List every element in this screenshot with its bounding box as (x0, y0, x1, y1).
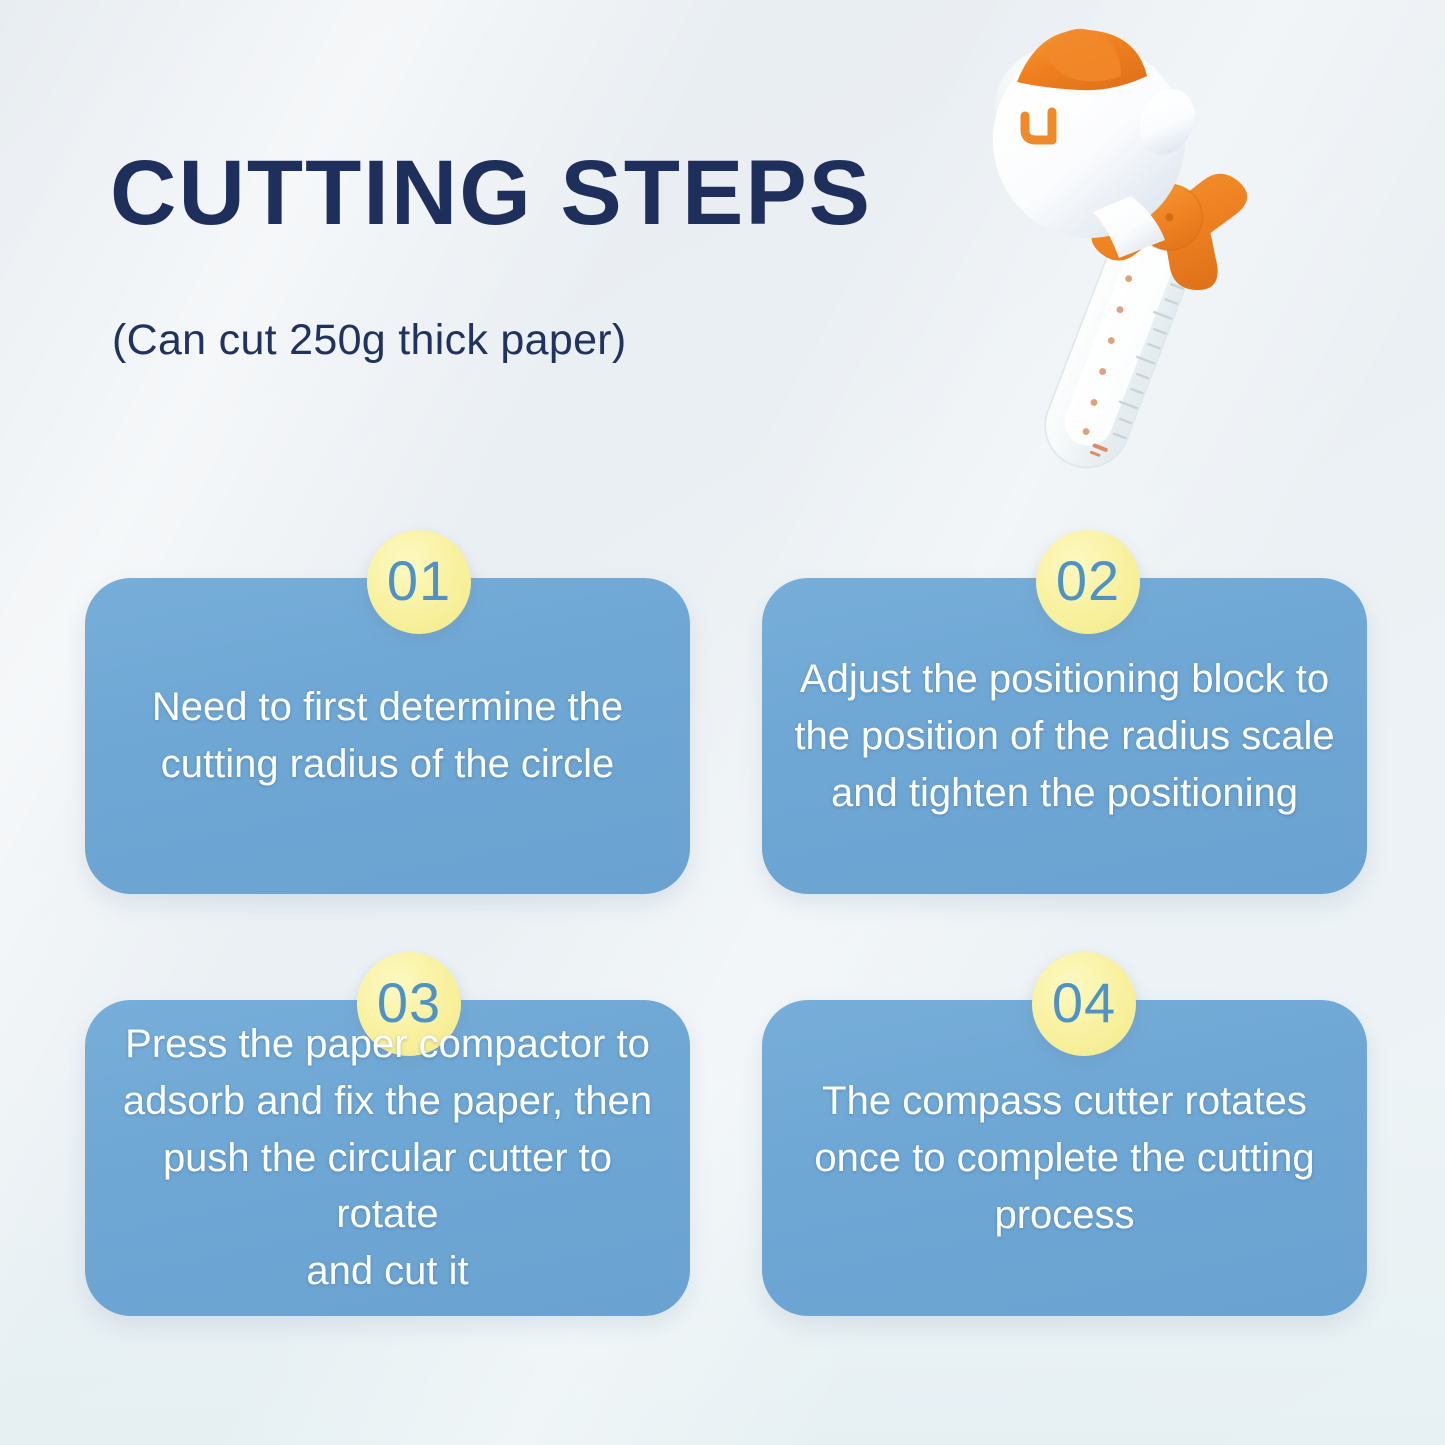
step-card-02[interactable]: 02 Adjust the positioning block to the p… (762, 578, 1367, 894)
step-card-03[interactable]: 03 Press the paper compactor to adsorb a… (85, 1000, 690, 1316)
step-badge-02: 02 (1036, 530, 1140, 634)
step-badge-04: 04 (1032, 952, 1136, 1056)
page-title: CUTTING STEPS (110, 145, 872, 242)
step-number: 02 (1056, 553, 1120, 609)
step-description: The compass cutter rotates once to compl… (788, 1073, 1341, 1243)
step-description: Need to first determine the cutting radi… (111, 679, 664, 793)
step-card-01[interactable]: 01 Need to first determine the cutting r… (85, 578, 690, 894)
step-badge-01: 01 (367, 530, 471, 634)
step-description: Press the paper compactor to adsorb and … (111, 1016, 664, 1300)
steps-grid: 01 Need to first determine the cutting r… (85, 578, 1365, 1326)
step-description: Adjust the positioning block to the posi… (788, 651, 1341, 821)
page-subtitle: (Can cut 250g thick paper) (112, 316, 627, 365)
product-image-compass-cutter (955, 18, 1435, 478)
duck-hat (1017, 29, 1147, 90)
step-number: 01 (387, 553, 451, 609)
step-number: 04 (1052, 975, 1116, 1031)
step-card-04[interactable]: 04 The compass cutter rotates once to co… (762, 1000, 1367, 1316)
